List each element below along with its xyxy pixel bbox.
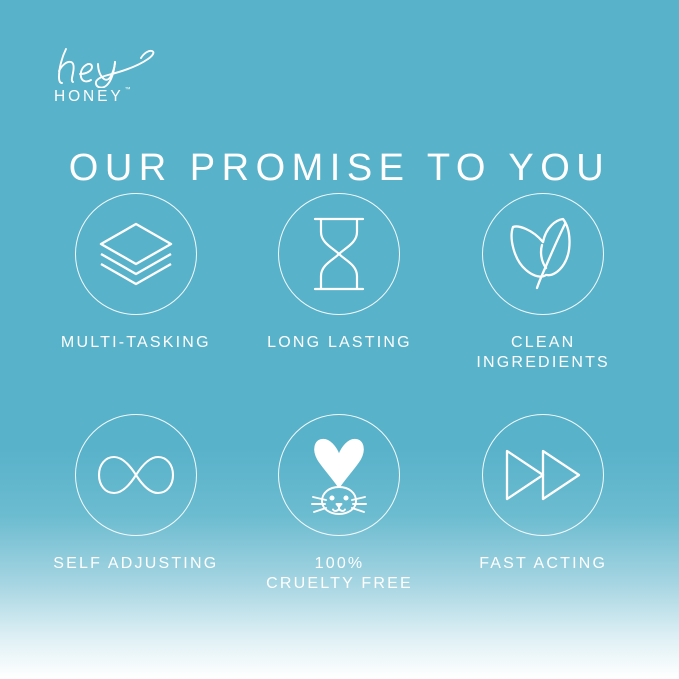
promise-label: 100% CRUELTY FREE: [266, 554, 413, 595]
infinity-icon: [94, 451, 178, 499]
brand-logo[interactable]: HONEY™: [52, 46, 232, 112]
promise-item-clean-ingredients: CLEAN INGREDIENTS: [441, 193, 645, 374]
promise-icon-circle: [278, 414, 400, 536]
promise-icon-circle: [75, 193, 197, 315]
promise-item-cruelty-free: 100% CRUELTY FREE: [238, 414, 442, 595]
leaves-icon: [502, 212, 584, 296]
fast-forward-icon: [501, 444, 585, 506]
promise-grid: MULTI-TASKING LONG LASTING: [34, 193, 645, 595]
promise-icon-circle: [75, 414, 197, 536]
stacked-layers-icon: [93, 211, 179, 297]
promise-item-fast-acting: FAST ACTING: [441, 414, 645, 595]
brand-wordmark: HONEY™: [54, 89, 232, 105]
hey-script-logo-icon: [52, 46, 162, 88]
hourglass-icon: [303, 212, 375, 296]
promise-label: MULTI-TASKING: [61, 333, 211, 353]
promise-item-self-adjusting: SELF ADJUSTING: [34, 414, 238, 595]
bunny-heart-icon: [296, 431, 382, 519]
promise-icon-circle: [482, 193, 604, 315]
promise-label: SELF ADJUSTING: [53, 554, 218, 574]
promise-item-long-lasting: LONG LASTING: [238, 193, 442, 374]
trademark-symbol: ™: [125, 87, 131, 93]
promise-item-multi-tasking: MULTI-TASKING: [34, 193, 238, 374]
promise-card: HONEY™ OUR PROMISE TO YOU MULTI-TASKING: [0, 0, 679, 679]
promise-icon-circle: [278, 193, 400, 315]
page-title: OUR PROMISE TO YOU: [0, 149, 679, 187]
brand-wordmark-text: HONEY: [54, 88, 124, 105]
promise-label: LONG LASTING: [267, 333, 412, 353]
promise-icon-circle: [482, 414, 604, 536]
promise-label: FAST ACTING: [479, 554, 607, 574]
promise-label: CLEAN INGREDIENTS: [476, 333, 610, 374]
